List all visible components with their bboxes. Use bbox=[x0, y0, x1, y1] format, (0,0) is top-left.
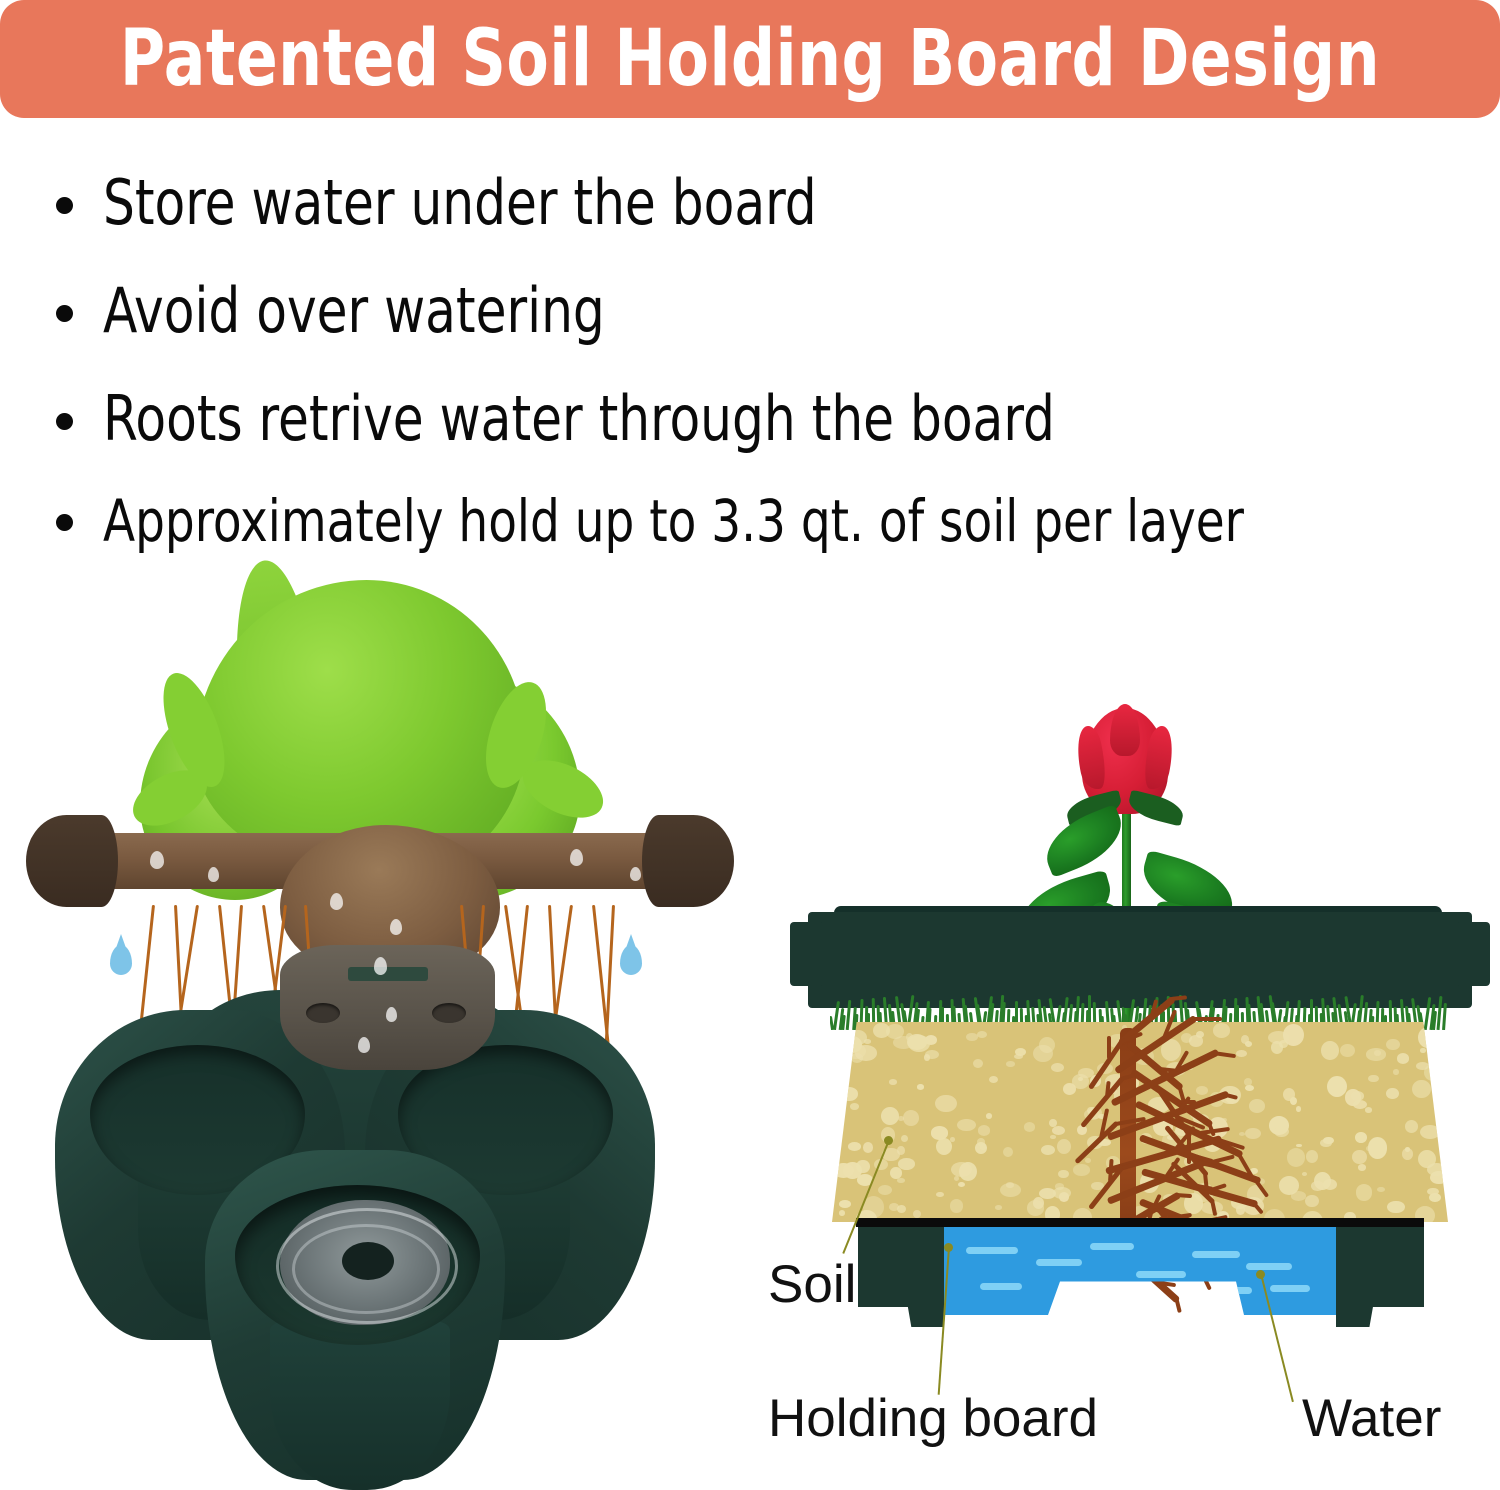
water-droplet-icon bbox=[358, 1037, 370, 1053]
board-slot bbox=[348, 967, 428, 981]
list-item-label: Avoid over watering bbox=[103, 280, 605, 342]
product-photo-stacking-planter bbox=[20, 560, 740, 1460]
header-banner: Patented Soil Holding Board Design bbox=[0, 0, 1500, 118]
bullet-dot-icon bbox=[56, 514, 73, 531]
rose-sepal bbox=[1126, 790, 1186, 827]
list-item: Avoid over watering bbox=[56, 280, 661, 342]
list-item: Approximately hold up to 3.3 qt. of soil… bbox=[56, 492, 1371, 550]
annotation-label-holding-board: Holding board bbox=[768, 1392, 1098, 1445]
water-droplet-icon bbox=[110, 945, 132, 975]
drainage-hole-icon bbox=[432, 1003, 466, 1023]
soil-holding-board-top bbox=[30, 815, 730, 910]
list-item-label: Roots retrive water through the board bbox=[103, 388, 1055, 450]
bullet-dot-icon bbox=[56, 305, 73, 322]
cross-section-diagram bbox=[790, 690, 1490, 1290]
water-droplet-icon bbox=[150, 851, 164, 869]
water-droplet-icon bbox=[330, 893, 343, 910]
rose-leaf bbox=[1036, 804, 1131, 878]
water-reservoir bbox=[940, 1227, 1340, 1315]
planter-leg-right bbox=[1336, 1227, 1424, 1327]
water-droplet-icon bbox=[208, 867, 219, 882]
board-end-right bbox=[642, 815, 734, 907]
planter-rim-tab-right bbox=[1456, 922, 1490, 986]
water-droplet-icon bbox=[630, 867, 641, 881]
page-title: Patented Soil Holding Board Design bbox=[120, 20, 1380, 98]
drainage-hole-icon bbox=[306, 1003, 340, 1023]
water-droplet-icon bbox=[570, 849, 583, 866]
list-item-label: Approximately hold up to 3.3 qt. of soil… bbox=[103, 492, 1244, 550]
list-item-label: Store water under the board bbox=[103, 172, 817, 234]
bullet-dot-icon bbox=[56, 197, 73, 214]
planter-leg-left bbox=[858, 1227, 944, 1327]
water-droplet-icon bbox=[386, 1007, 397, 1022]
holding-board-line bbox=[856, 1218, 1424, 1227]
water-droplet-icon bbox=[620, 945, 642, 975]
bullet-dot-icon bbox=[56, 413, 73, 430]
water-droplet-icon bbox=[390, 919, 402, 935]
water-splash bbox=[270, 1190, 460, 1340]
board-end-left bbox=[26, 815, 118, 907]
annotation-label-soil: Soil bbox=[768, 1258, 856, 1311]
list-item: Store water under the board bbox=[56, 172, 896, 234]
list-item: Roots retrive water through the board bbox=[56, 388, 1161, 450]
holding-board-insert bbox=[280, 945, 495, 1070]
rose-plant bbox=[790, 690, 1490, 940]
annotation-label-water: Water bbox=[1302, 1392, 1441, 1445]
water-droplet-icon bbox=[374, 957, 387, 975]
planter-rim-tab-left bbox=[790, 922, 824, 986]
